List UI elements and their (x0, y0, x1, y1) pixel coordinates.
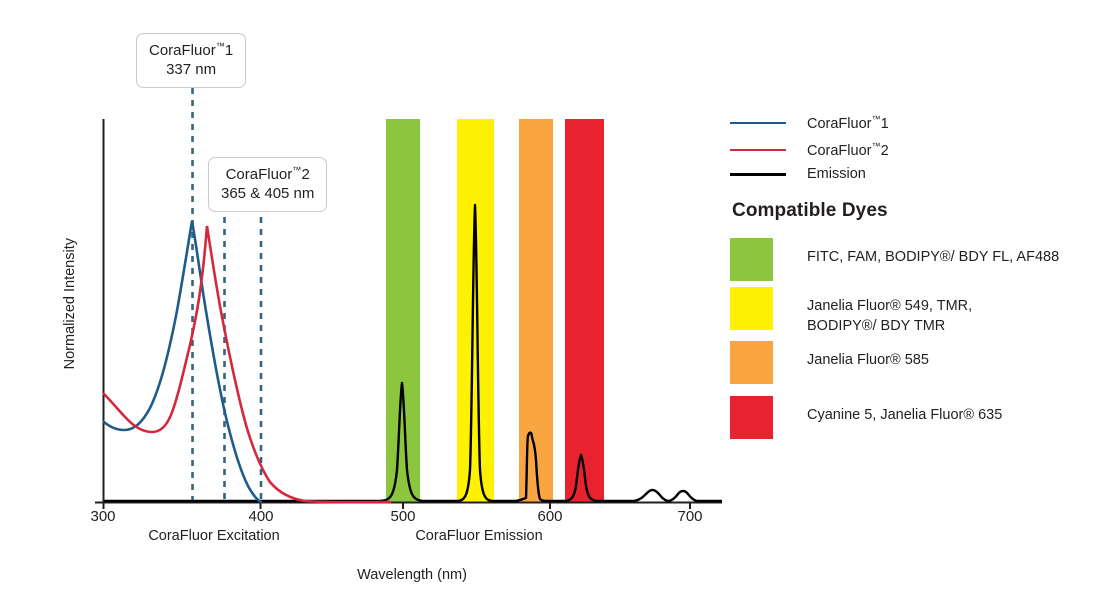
x-tick-600: 600 (537, 508, 562, 525)
legend-panel: CoraFluor™1 CoraFluor™2 Emission Compati… (730, 0, 1110, 612)
x-tick-700: 700 (677, 508, 702, 525)
callout-corafluor1-name: CoraFluor (149, 42, 216, 59)
callout-corafluor1-index: 1 (225, 42, 233, 59)
dye-label-yellow: Janelia Fluor® 549, TMR, BODIPY®/ BDY TM… (807, 287, 972, 336)
trademark-icon: ™ (871, 141, 880, 151)
band-orange (519, 119, 553, 502)
chart-canvas: 300 400 500 600 700 CoraFluor Excitation… (0, 0, 730, 612)
line-swatch-corafluor1 (730, 122, 786, 124)
corafluor2-curve (104, 226, 390, 502)
dye-row-green: FITC, FAM, BODIPY®/ BDY FL, AF488 (730, 238, 1059, 281)
legend-series-corafluor1: CoraFluor™1 (730, 114, 889, 132)
line-swatch-emission (730, 173, 786, 176)
band-yellow (457, 119, 494, 502)
dye-label-orange: Janelia Fluor® 585 (807, 341, 929, 371)
region-label-excitation: CoraFluor Excitation (148, 528, 279, 544)
x-axis-title: Wavelength (nm) (357, 567, 467, 583)
dye-bands (386, 119, 604, 502)
callout-corafluor2-index: 2 (301, 166, 309, 183)
color-swatch-yellow (730, 287, 773, 330)
x-tick-300: 300 (90, 508, 115, 525)
x-tick-400: 400 (248, 508, 273, 525)
dye-label-red: Cyanine 5, Janelia Fluor® 635 (807, 396, 1002, 426)
figure-root: 300 400 500 600 700 CoraFluor Excitation… (0, 0, 1110, 612)
x-tick-500: 500 (390, 508, 415, 525)
corafluor1-curve (104, 221, 261, 502)
legend-series-emission-label: Emission (807, 166, 866, 182)
callout-corafluor2: CoraFluor™2 365 & 405 nm (208, 157, 327, 212)
legend-series-corafluor2-label: CoraFluor™2 (807, 141, 889, 159)
band-green (386, 119, 420, 502)
callout-corafluor1: CoraFluor™1 337 nm (136, 33, 246, 88)
legend-series-corafluor1-label: CoraFluor™1 (807, 114, 889, 132)
dye-row-orange: Janelia Fluor® 585 (730, 341, 929, 384)
legend-series-emission: Emission (730, 165, 866, 183)
region-label-emission: CoraFluor Emission (415, 528, 542, 544)
callout-corafluor2-line1: CoraFluor™2 (221, 165, 314, 184)
dye-row-yellow: Janelia Fluor® 549, TMR, BODIPY®/ BDY TM… (730, 287, 972, 336)
dye-label-green: FITC, FAM, BODIPY®/ BDY FL, AF488 (807, 238, 1059, 268)
callout-corafluor2-line2: 365 & 405 nm (221, 184, 314, 203)
y-axis-title: Normalized Intensity (62, 238, 78, 369)
color-swatch-green (730, 238, 773, 281)
legend-series-corafluor2: CoraFluor™2 (730, 141, 889, 159)
color-swatch-red (730, 396, 773, 439)
color-swatch-orange (730, 341, 773, 384)
compatible-dyes-title: Compatible Dyes (732, 200, 888, 222)
trademark-icon: ™ (216, 41, 225, 51)
callout-corafluor2-name: CoraFluor (226, 166, 293, 183)
band-red (565, 119, 604, 502)
trademark-icon: ™ (871, 114, 880, 124)
dye-row-red: Cyanine 5, Janelia Fluor® 635 (730, 396, 1002, 439)
callout-corafluor1-line2: 337 nm (149, 60, 233, 79)
callout-corafluor1-line1: CoraFluor™1 (149, 41, 233, 60)
line-swatch-corafluor2 (730, 149, 786, 151)
